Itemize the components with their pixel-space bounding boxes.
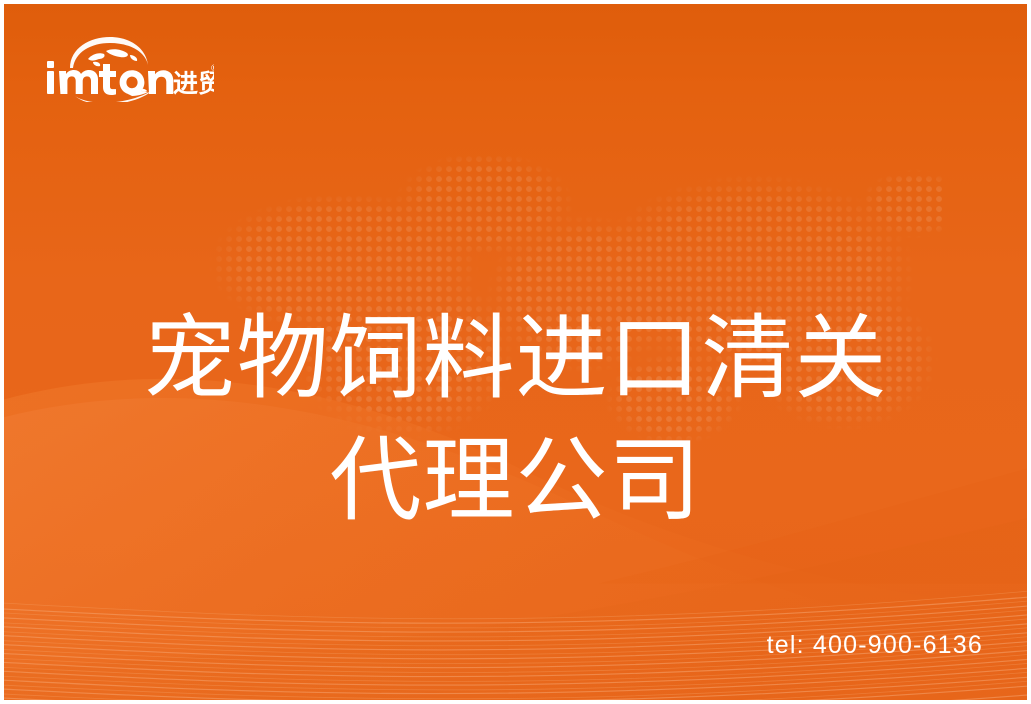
headline-line-2: 代理公司 — [4, 420, 1027, 542]
company-logo[interactable]: 进贸通 ® — [42, 34, 214, 102]
promotional-banner: 进贸通 ® 宠物饲料进口清关 代理公司 tel: 400-900-6136 — [0, 0, 1031, 704]
logo-chinese-name: 进贸通 — [173, 69, 214, 98]
trademark-icon: ® — [210, 64, 214, 74]
headline: 宠物饲料进口清关 代理公司 — [4, 298, 1027, 542]
telephone-number[interactable]: tel: 400-900-6136 — [767, 631, 983, 660]
globe-icon — [70, 37, 148, 68]
logo-wordmark — [47, 61, 173, 95]
headline-line-1: 宠物饲料进口清关 — [4, 298, 1027, 420]
